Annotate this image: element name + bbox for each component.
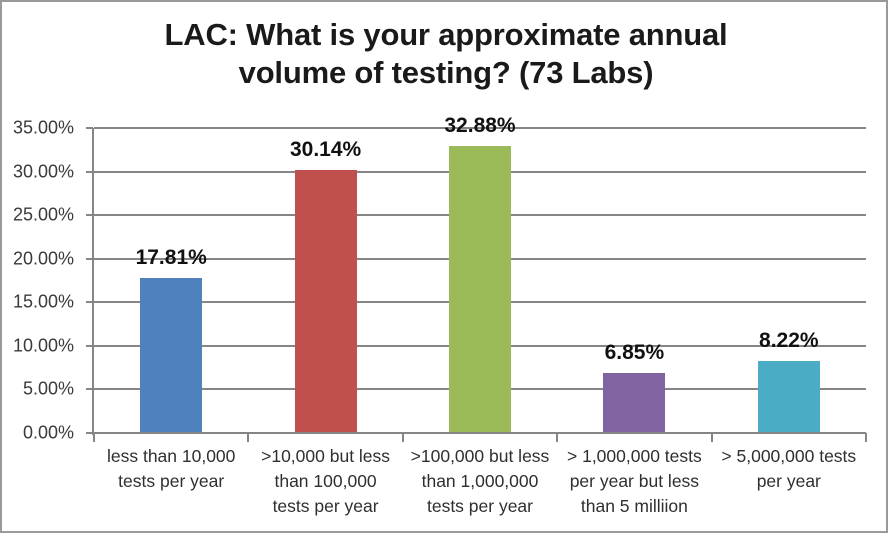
chart-title: LAC: What is your approximate annual vol… — [42, 16, 850, 92]
x-axis-tick-mark — [402, 433, 404, 442]
x-axis-category-label-line: than 5 milliion — [557, 494, 711, 519]
x-axis-category-label: >10,000 but lessthan 100,000tests per ye… — [248, 444, 402, 519]
x-axis-tick-mark — [93, 433, 95, 442]
chart-title-line-1: LAC: What is your approximate annual — [42, 16, 850, 54]
x-axis-category-label-line: >100,000 but less — [403, 444, 557, 469]
x-axis-category-label-line: tests per year — [94, 469, 248, 494]
y-axis-tick-labels: 0.00%5.00%10.00%15.00%20.00%25.00%30.00%… — [2, 2, 86, 533]
y-axis-tick-label: 30.00% — [13, 161, 74, 182]
x-axis-category-label-line: per year but less — [557, 469, 711, 494]
x-axis-category-label: > 5,000,000 testsper year — [712, 444, 866, 494]
x-axis-category-label: less than 10,000tests per year — [94, 444, 248, 494]
x-axis-category-label-line: > 5,000,000 tests — [712, 444, 866, 469]
x-axis-category-label-line: than 1,000,000 — [403, 469, 557, 494]
x-axis-tick-mark — [556, 433, 558, 442]
bar[interactable] — [449, 146, 511, 433]
y-axis-tick-label: 15.00% — [13, 292, 74, 313]
bar-chart: LAC: What is your approximate annual vol… — [0, 0, 888, 533]
x-axis-tick-mark — [711, 433, 713, 442]
x-axis-category-label-line: per year — [712, 469, 866, 494]
bar-value-label: 8.22% — [759, 329, 819, 353]
x-axis-category-label-line: than 100,000 — [248, 469, 402, 494]
x-axis-category-label-line: > 1,000,000 tests — [557, 444, 711, 469]
bar[interactable] — [603, 373, 665, 433]
bar-value-label: 30.14% — [290, 138, 361, 162]
y-axis-tick-label: 35.00% — [13, 118, 74, 139]
y-axis-tick-label: 20.00% — [13, 248, 74, 269]
x-axis-category-labels: less than 10,000tests per year>10,000 bu… — [94, 444, 866, 532]
x-axis-category-label: > 1,000,000 testsper year but lessthan 5… — [557, 444, 711, 519]
x-axis-category-label-line: less than 10,000 — [94, 444, 248, 469]
bar-value-label: 17.81% — [136, 246, 207, 270]
x-axis-tick-mark — [247, 433, 249, 442]
y-axis-tick-label: 0.00% — [23, 423, 74, 444]
x-axis-category-label-line: tests per year — [248, 494, 402, 519]
bar-value-label: 6.85% — [605, 341, 665, 365]
y-axis-tick-label: 10.00% — [13, 335, 74, 356]
chart-title-line-2: volume of testing? (73 Labs) — [42, 54, 850, 92]
bar[interactable] — [140, 278, 202, 433]
x-axis-category-label: >100,000 but lessthan 1,000,000tests per… — [403, 444, 557, 519]
x-axis-line — [94, 432, 866, 434]
x-axis-tick-mark — [865, 433, 867, 442]
bar-value-label: 32.88% — [444, 114, 515, 138]
x-axis-category-label-line: tests per year — [403, 494, 557, 519]
x-axis-category-label-line: >10,000 but less — [248, 444, 402, 469]
bar[interactable] — [295, 170, 357, 433]
plot-area: 17.81%30.14%32.88%6.85%8.22% — [94, 128, 866, 433]
bar[interactable] — [758, 361, 820, 433]
y-axis-tick-label: 5.00% — [23, 379, 74, 400]
y-axis-tick-label: 25.00% — [13, 205, 74, 226]
